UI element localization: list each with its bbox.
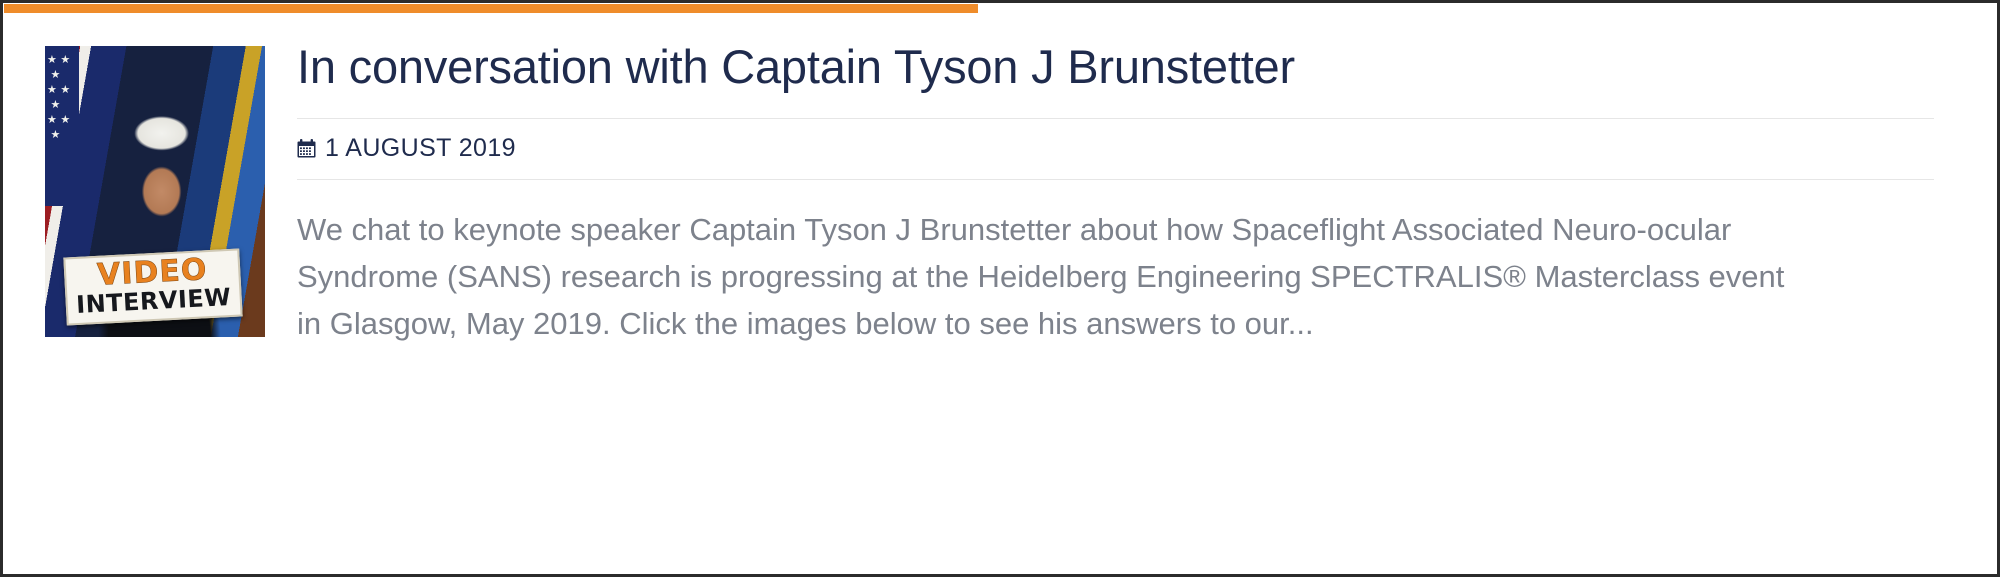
article-card: VIDEO INTERVIEW In conversation with Cap… bbox=[4, 18, 1994, 570]
article-card-screen: VIDEO INTERVIEW In conversation with Cap… bbox=[0, 0, 2000, 577]
article-content: In conversation with Captain Tyson J Bru… bbox=[297, 42, 1954, 347]
orange-accent-bar bbox=[4, 4, 978, 13]
frame-border-left bbox=[0, 0, 3, 577]
article-thumbnail[interactable]: VIDEO INTERVIEW bbox=[45, 46, 265, 337]
article-date: 1 AUGUST 2019 bbox=[325, 134, 516, 163]
badge-line-interview: INTERVIEW bbox=[67, 284, 240, 318]
us-flag-stars bbox=[45, 46, 79, 206]
calendar-icon bbox=[297, 139, 316, 158]
article-meta: 1 AUGUST 2019 bbox=[297, 119, 1954, 179]
article-title[interactable]: In conversation with Captain Tyson J Bru… bbox=[297, 42, 1954, 118]
video-interview-badge: VIDEO INTERVIEW bbox=[63, 249, 242, 326]
article-excerpt: We chat to keynote speaker Captain Tyson… bbox=[297, 180, 1787, 347]
frame-border-top bbox=[0, 0, 2000, 3]
